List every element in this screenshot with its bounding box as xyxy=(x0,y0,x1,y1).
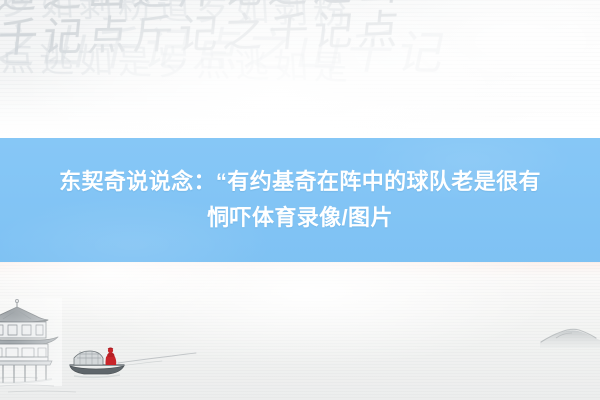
calligraphy-texture-band: 遥之山逃斤记逃之山 千记点斤记之千记点 岁如剥粉道岁如剥粉 点逃如是岁点逃如是 … xyxy=(0,0,600,138)
calligraphy-fog-overlay xyxy=(0,0,600,138)
pavilion-icon xyxy=(0,298,62,386)
headline-banner: 东契奇说说念：“有约基奇在阵中的球队老是很有 恫吓体育录像/图片 xyxy=(0,138,600,262)
landscape-image xyxy=(0,262,600,400)
headline-line-2: 恫吓体育录像/图片 xyxy=(16,200,584,236)
distant-shore-icon xyxy=(540,329,600,348)
boatman-icon xyxy=(106,348,117,365)
headline-line-1: 东契奇说说念：“有约基奇在阵中的球队老是很有 xyxy=(16,164,584,200)
article-thumbnail: 遥之山逃斤记逃之山 千记点斤记之千记点 岁如剥粉道岁如剥粉 点逃如是岁点逃如是 … xyxy=(0,0,600,400)
headline-text: 东契奇说说念：“有约基奇在阵中的球队老是很有 恫吓体育录像/图片 xyxy=(16,164,584,236)
landscape-ink-drawing xyxy=(0,262,600,400)
boat-icon xyxy=(70,348,196,377)
